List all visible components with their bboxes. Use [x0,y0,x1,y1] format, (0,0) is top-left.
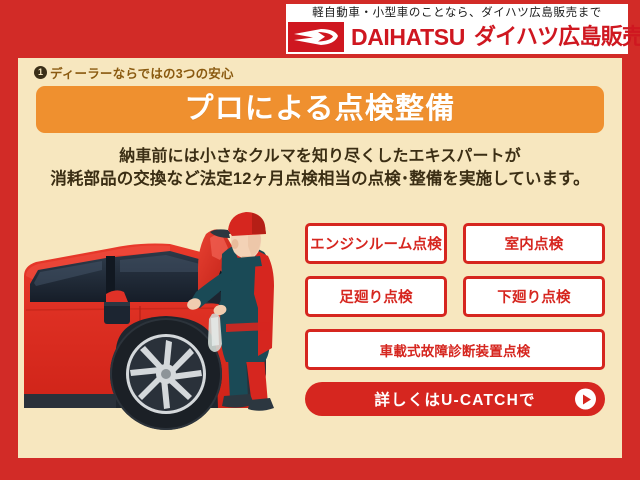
inspection-menu: エンジンルーム点検 室内点検 足廻り点検 下廻り点検 車載式故障診断装置点検 [305,223,605,416]
menu-row-3: 車載式故障診断装置点検 [305,329,605,370]
menu-row-2: 足廻り点検 下廻り点検 [305,276,605,317]
daihatsu-emblem-icon [288,22,344,52]
promo-page: 軽自動車・小型車のことなら、ダイハツ広島販売まで DAIHATSU ダイハツ広島… [0,0,640,480]
section-label: 1 ディーラーならではの3つの安心 [34,63,234,82]
header-strip: 軽自動車・小型車のことなら、ダイハツ広島販売まで DAIHATSU ダイハツ広島… [0,0,640,58]
mechanic-car-illustration [20,198,312,456]
brand-name-jp: ダイハツ広島販売 [474,24,640,50]
play-arrow-icon[interactable] [575,389,596,410]
menu-item-suspension[interactable]: 足廻り点検 [305,276,447,317]
menu-item-suspension-label: 足廻り点検 [339,286,413,307]
content-panel: 1 ディーラーならではの3つの安心 プロによる点検整備 納車前には小さなクルマを… [18,58,622,458]
menu-item-interior[interactable]: 室内点検 [463,223,605,264]
header-tagline: 軽自動車・小型車のことなら、ダイハツ広島販売まで [312,6,602,21]
menu-item-underbody[interactable]: 下廻り点検 [463,276,605,317]
menu-item-obd-diagnostics[interactable]: 車載式故障診断装置点検 [305,329,605,370]
section-label-text: ディーラーならではの3つの安心 [50,63,234,82]
menu-row-1: エンジンルーム点検 室内点検 [305,223,605,264]
title-banner: プロによる点検整備 [36,86,604,133]
brand-logo-row: DAIHATSU ダイハツ広島販売 [286,22,628,52]
brand-wordmark: DAIHATSU [351,24,465,50]
description-line-1: 納車前には小さなクルマを知り尽くしたエキスパートが [18,146,622,168]
u-catch-cta-button[interactable]: 詳しくはU-CATCHで [305,382,605,416]
menu-item-underbody-label: 下廻り点検 [497,286,571,307]
menu-item-engine-room-label: エンジンルーム点検 [310,233,442,254]
description-block: 納車前には小さなクルマを知り尽くしたエキスパートが 消耗部品の交換など法定12ヶ… [18,146,622,190]
menu-item-engine-room[interactable]: エンジンルーム点検 [305,223,447,264]
menu-item-interior-label: 室内点検 [505,233,564,254]
page-title: プロによる点検整備 [185,95,456,124]
section-number-badge: 1 [34,66,47,79]
u-catch-cta-label: 詳しくはU-CATCHで [374,388,535,410]
menu-item-obd-diagnostics-label: 車載式故障診断装置点検 [380,340,531,360]
description-line-2: 消耗部品の交換など法定12ヶ月点検相当の点検･整備を実施しています。 [18,168,622,190]
brand-header-card: 軽自動車・小型車のことなら、ダイハツ広島販売まで DAIHATSU ダイハツ広島… [286,4,628,54]
